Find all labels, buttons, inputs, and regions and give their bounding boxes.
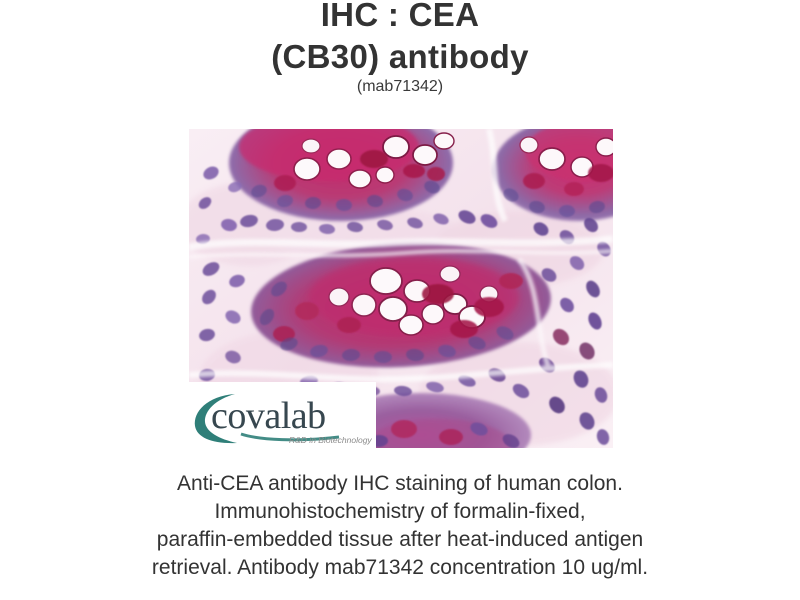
covalab-wordmark: covalab <box>211 395 326 437</box>
caption-line-3: paraffin-embedded tissue after heat-indu… <box>100 526 700 554</box>
caption-line-2: Immunohistochemistry of formalin-fixed, <box>100 498 700 526</box>
covalab-logo-watermark: covalab R&D in Biotechnology <box>189 382 376 448</box>
covalab-tagline: R&D in Biotechnology <box>289 435 372 445</box>
caption-line-1: Anti-CEA antibody IHC staining of human … <box>100 470 700 498</box>
title-line-1: IHC : CEA <box>0 0 800 36</box>
figure-title-block: IHC : CEA (CB30) antibody (mab71342) <box>0 0 800 98</box>
ihc-micrograph: covalab R&D in Biotechnology <box>189 129 613 448</box>
catalog-number: (mab71342) <box>0 76 800 98</box>
figure-caption: Anti-CEA antibody IHC staining of human … <box>100 470 700 582</box>
covalab-logo: covalab R&D in Biotechnology <box>189 382 376 448</box>
caption-line-4: retrieval. Antibody mab71342 concentrati… <box>100 554 700 582</box>
title-line-2: (CB30) antibody <box>0 36 800 78</box>
